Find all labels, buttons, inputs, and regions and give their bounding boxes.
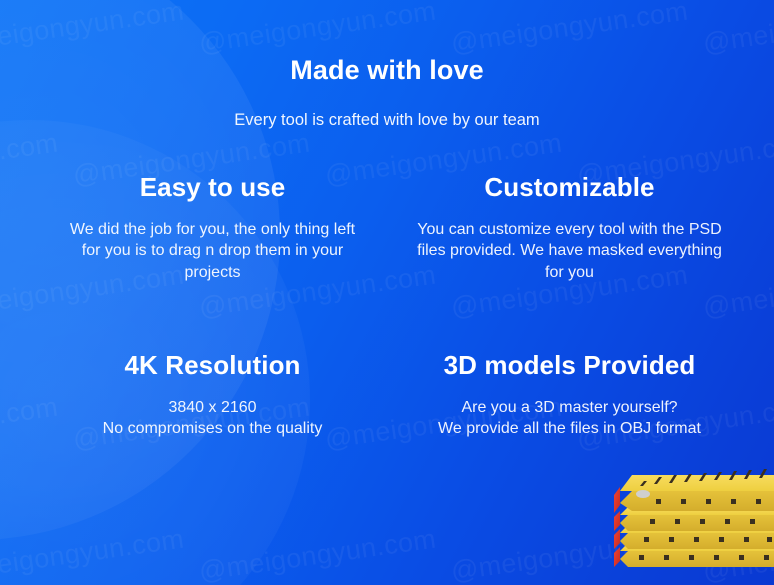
header-subtitle: Every tool is crafted with love by our t… xyxy=(222,86,552,132)
feature-block-4k-resolution: 4K Resolution 3840 x 2160 No compromises… xyxy=(0,350,387,440)
feature-row-bottom: 4K Resolution 3840 x 2160 No compromises… xyxy=(0,350,774,440)
feature-block-3d-models: 3D models Provided Are you a 3D master y… xyxy=(387,350,774,440)
feature-row-top: Easy to use We did the job for you, the … xyxy=(0,172,774,283)
ruler-slat-1 xyxy=(614,469,774,513)
slide-canvas: @meigongyun.com@meigongyun.com@meigongyu… xyxy=(0,0,774,585)
feature-block-easy-to-use: Easy to use We did the job for you, the … xyxy=(0,172,387,283)
feature-description: You can customize every tool with the PS… xyxy=(415,203,724,283)
feature-description: Are you a 3D master yourself? We provide… xyxy=(415,381,724,440)
feature-title: 3D models Provided xyxy=(415,350,724,381)
folding-ruler-illustration xyxy=(584,455,774,585)
feature-title: Easy to use xyxy=(62,172,363,203)
feature-grid: Easy to use We did the job for you, the … xyxy=(0,172,774,440)
feature-title: Customizable xyxy=(415,172,724,203)
feature-title: 4K Resolution xyxy=(62,350,363,381)
page-title: Made with love xyxy=(0,54,774,86)
feature-description: 3840 x 2160 No compromises on the qualit… xyxy=(62,381,363,440)
feature-description: We did the job for you, the only thing l… xyxy=(62,203,363,283)
feature-block-customizable: Customizable You can customize every too… xyxy=(387,172,774,283)
ruler-rivet-icon xyxy=(636,490,650,498)
header-block: Made with love Every tool is crafted wit… xyxy=(0,54,774,132)
